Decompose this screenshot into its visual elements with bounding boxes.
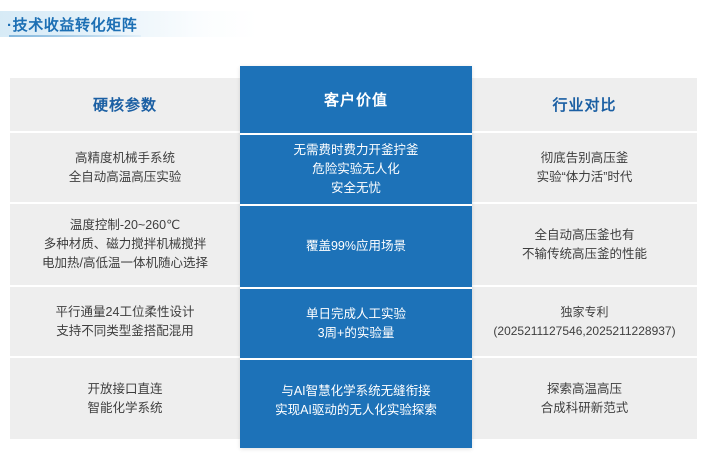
cell-value: 与AI智慧化学系统无缝衔接 实现AI驱动的无人化实验探索 [240, 358, 472, 441]
highlighted-column-customer-value: 客户价值 无需费时费力开釜拧釜 危险实验无人化 安全无忧 覆盖99%应用场景 单… [240, 66, 472, 448]
cell-line: 温度控制-20~260℃ [70, 216, 180, 235]
column-header-hardcore: 硬核参数 [10, 78, 240, 131]
cell-line: 危险实验无人化 [312, 160, 400, 179]
cell-line: 3周+的实验量 [318, 324, 395, 343]
cell-line: 多种材质、磁力搅拌机械搅拌 [44, 235, 207, 254]
column-header-value: 客户价值 [240, 66, 472, 133]
cell-value: 单日完成人工实验 3周+的实验量 [240, 287, 472, 358]
cell-line: 实验“体力活”时代 [537, 168, 633, 187]
cell-line: 实现AI驱动的无人化实验探索 [275, 401, 437, 420]
cell-line: 高精度机械手系统 [75, 149, 175, 168]
cell-line: 独家专利 [560, 303, 608, 322]
cell-industry: 探索高温高压 合成科研新范式 [472, 358, 697, 439]
column-header-label: 硬核参数 [93, 94, 157, 115]
cell-line: 无需费时费力开釜拧釜 [293, 141, 418, 160]
cell-line: 覆盖99%应用场景 [306, 237, 406, 256]
cell-hardcore: 平行通量24工位柔性设计 支持不同类型釜搭配混用 [10, 287, 240, 356]
column-header-industry: 行业对比 [472, 78, 697, 131]
cell-line: 支持不同类型釜搭配混用 [56, 322, 194, 341]
cell-line: 智能化学系统 [87, 399, 162, 418]
title-underline [9, 35, 141, 37]
cell-hardcore: 开放接口直连 智能化学系统 [10, 358, 240, 439]
cell-industry: 独家专利 (2025211127546,2025211228937) [472, 287, 697, 356]
cell-line: 彻底告别高压釜 [541, 149, 629, 168]
page-title-block: ·技术收益转化矩阵 [0, 11, 260, 37]
cell-line: 单日完成人工实验 [306, 305, 406, 324]
cell-value: 覆盖99%应用场景 [240, 204, 472, 287]
cell-industry: 彻底告别高压釜 实验“体力活”时代 [472, 133, 697, 202]
cell-value: 无需费时费力开釜拧釜 危险实验无人化 安全无忧 [240, 133, 472, 204]
cell-hardcore: 温度控制-20~260℃ 多种材质、磁力搅拌机械搅拌 电加热/高低温一体机随心选… [10, 204, 240, 285]
cell-line: 探索高温高压 [547, 380, 622, 399]
page-title: ·技术收益转化矩阵 [7, 14, 137, 35]
column-header-label: 行业对比 [552, 94, 616, 115]
cell-line: 全自动高压釜也有 [534, 226, 634, 245]
cell-line: 电加热/高低温一体机随心选择 [42, 254, 208, 273]
cell-line: 与AI智慧化学系统无缝衔接 [281, 382, 430, 401]
cell-line: 平行通量24工位柔性设计 [56, 303, 195, 322]
cell-hardcore: 高精度机械手系统 全自动高温高压实验 [10, 133, 240, 202]
column-header-label: 客户价值 [324, 89, 388, 110]
cell-industry: 全自动高压釜也有 不输传统高压釜的性能 [472, 204, 697, 285]
cell-line: 安全无忧 [331, 179, 381, 198]
patent-numbers: (2025211127546,2025211228937) [493, 322, 675, 341]
cell-line: 不输传统高压釜的性能 [522, 245, 647, 264]
cell-line: 合成科研新范式 [541, 399, 629, 418]
tech-benefit-matrix: 硬核参数 行业对比 高精度机械手系统 全自动高温高压实验 彻底告别高压釜 实验“… [10, 78, 697, 436]
cell-line: 开放接口直连 [87, 380, 162, 399]
cell-line: 全自动高温高压实验 [69, 168, 182, 187]
